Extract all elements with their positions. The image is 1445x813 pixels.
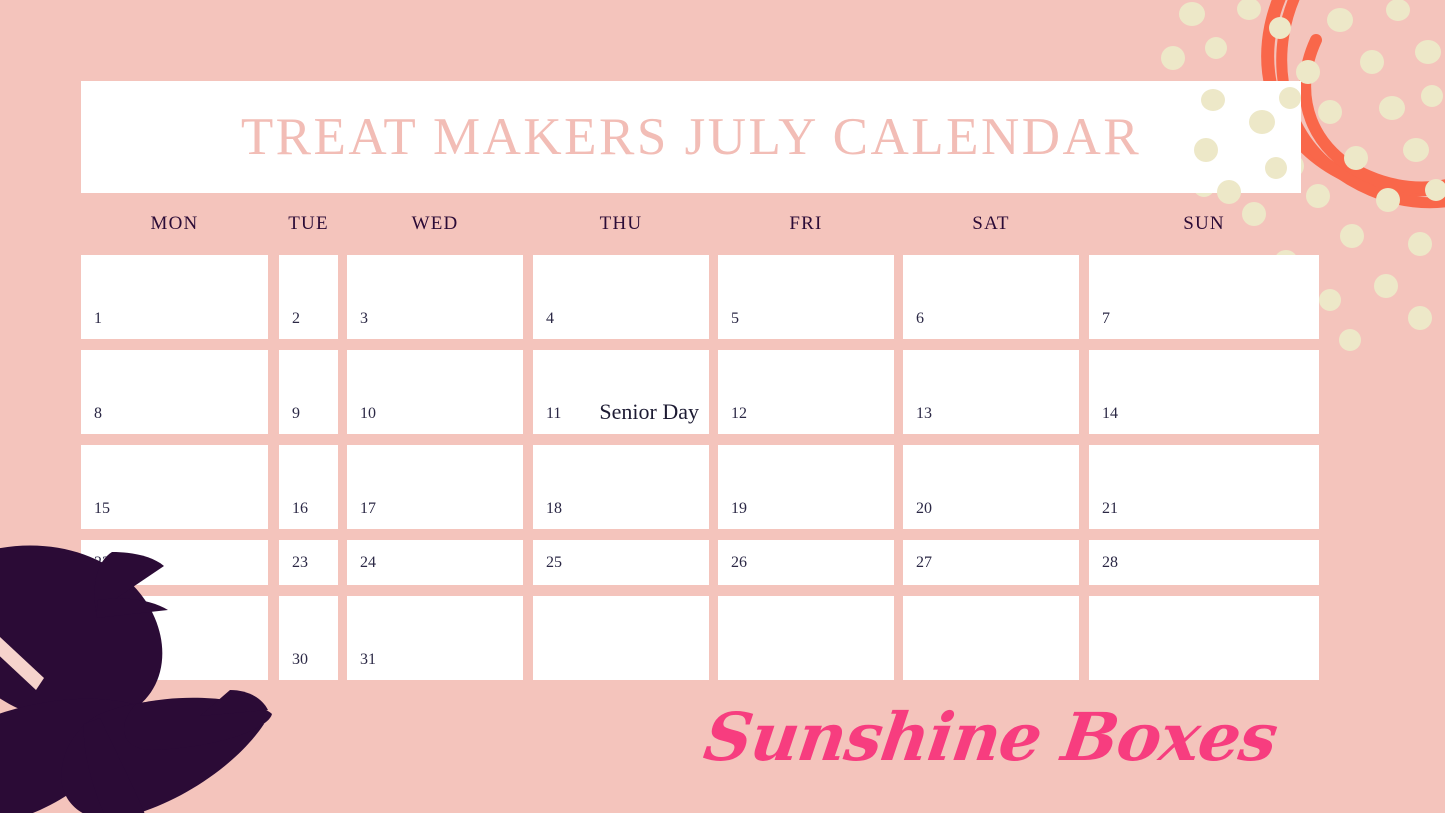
calendar-day-cell[interactable]: 6 <box>903 255 1079 339</box>
calendar-day-cell[interactable]: 8 <box>81 350 268 434</box>
cell-gap <box>523 596 533 680</box>
week-row-gap <box>81 434 1301 445</box>
calendar-day-cell[interactable]: 9 <box>279 350 338 434</box>
day-number: 13 <box>916 406 932 422</box>
day-number: 28 <box>1102 555 1118 571</box>
calendar-day-cell[interactable]: 3 <box>347 255 523 339</box>
calendar-day-cell[interactable]: 14 <box>1089 350 1319 434</box>
brand-logo: Sunshine Boxes <box>705 698 1155 783</box>
calendar-grid: 1234567891011Senior Day12131415161718192… <box>81 255 1301 680</box>
weekday-label-tue: TUE <box>279 213 338 235</box>
day-event-label[interactable]: Senior Day <box>599 401 699 423</box>
calendar-day-cell[interactable]: 23 <box>279 540 338 585</box>
calendar-day-cell[interactable]: 24 <box>347 540 523 585</box>
calendar-empty-cell[interactable] <box>903 596 1079 680</box>
day-number: 21 <box>1102 501 1118 517</box>
day-number: 10 <box>360 406 376 422</box>
cell-gap <box>268 596 279 680</box>
day-number: 25 <box>546 555 562 571</box>
day-number: 22 <box>94 555 110 571</box>
day-number: 6 <box>916 311 924 327</box>
calendar-day-cell[interactable]: 7 <box>1089 255 1319 339</box>
cell-gap <box>1079 596 1089 680</box>
cell-gap <box>709 445 718 529</box>
page-title: TREAT MAKERS JULY CALENDAR <box>241 107 1141 167</box>
calendar-day-cell[interactable]: 27 <box>903 540 1079 585</box>
week-row-gap <box>81 529 1301 540</box>
day-number: 31 <box>360 652 376 668</box>
cell-gap <box>338 596 347 680</box>
cell-gap <box>709 255 718 339</box>
cell-gap <box>894 540 903 585</box>
calendar-day-cell[interactable]: 22 <box>81 540 268 585</box>
cell-gap <box>523 255 533 339</box>
calendar-day-cell[interactable]: 29 <box>81 596 268 680</box>
day-number: 1 <box>94 311 102 327</box>
day-number: 17 <box>360 501 376 517</box>
calendar-week-row: 15161718192021 <box>81 445 1301 529</box>
week-row-gap <box>81 339 1301 350</box>
day-number: 23 <box>292 555 308 571</box>
calendar-day-cell[interactable]: 31 <box>347 596 523 680</box>
day-number: 24 <box>360 555 376 571</box>
day-number: 26 <box>731 555 747 571</box>
day-number: 9 <box>292 406 300 422</box>
calendar-week-row: 293031 <box>81 596 1301 680</box>
weekday-label-mon: MON <box>81 213 268 235</box>
calendar-week-row: 891011Senior Day121314 <box>81 350 1301 434</box>
cell-gap <box>894 350 903 434</box>
week-row-gap <box>81 585 1301 596</box>
cell-gap <box>523 350 533 434</box>
weekday-header-row: MONTUEWEDTHUFRISATSUN <box>81 193 1301 255</box>
day-number: 15 <box>94 501 110 517</box>
cell-gap <box>1079 540 1089 585</box>
calendar-day-cell[interactable]: 19 <box>718 445 894 529</box>
day-number: 29 <box>94 652 110 668</box>
cell-gap <box>338 255 347 339</box>
day-number: 5 <box>731 311 739 327</box>
calendar-week-row: 1234567 <box>81 255 1301 339</box>
calendar-day-cell[interactable]: 11Senior Day <box>533 350 709 434</box>
calendar-day-cell[interactable]: 20 <box>903 445 1079 529</box>
calendar: TREAT MAKERS JULY CALENDAR MONTUEWEDTHUF… <box>81 81 1301 680</box>
day-number: 8 <box>94 406 102 422</box>
day-number: 7 <box>1102 311 1110 327</box>
cell-gap <box>268 255 279 339</box>
calendar-day-cell[interactable]: 1 <box>81 255 268 339</box>
calendar-week-row: 22232425262728 <box>81 540 1301 585</box>
cell-gap <box>1079 350 1089 434</box>
weekday-label-thu: THU <box>533 213 709 235</box>
calendar-day-cell[interactable]: 15 <box>81 445 268 529</box>
calendar-day-cell[interactable]: 25 <box>533 540 709 585</box>
cell-gap <box>338 350 347 434</box>
day-number: 2 <box>292 311 300 327</box>
cell-gap <box>894 445 903 529</box>
weekday-label-wed: WED <box>347 213 523 235</box>
day-number: 30 <box>292 652 308 668</box>
cell-gap <box>268 445 279 529</box>
calendar-empty-cell[interactable] <box>533 596 709 680</box>
calendar-day-cell[interactable]: 4 <box>533 255 709 339</box>
day-number: 20 <box>916 501 932 517</box>
cell-gap <box>338 445 347 529</box>
calendar-day-cell[interactable]: 18 <box>533 445 709 529</box>
weekday-label-sun: SUN <box>1089 213 1319 235</box>
calendar-empty-cell[interactable] <box>1089 596 1319 680</box>
day-number: 11 <box>546 406 561 422</box>
calendar-day-cell[interactable]: 12 <box>718 350 894 434</box>
calendar-day-cell[interactable]: 26 <box>718 540 894 585</box>
calendar-title-card: TREAT MAKERS JULY CALENDAR <box>81 81 1301 193</box>
cell-gap <box>709 596 718 680</box>
calendar-day-cell[interactable]: 17 <box>347 445 523 529</box>
weekday-label-fri: FRI <box>718 213 894 235</box>
cell-gap <box>709 350 718 434</box>
weekday-label-sat: SAT <box>903 213 1079 235</box>
brand-name: Sunshine Boxes <box>700 698 1161 776</box>
cell-gap <box>338 540 347 585</box>
day-number: 19 <box>731 501 747 517</box>
cell-gap <box>1079 255 1089 339</box>
day-number: 14 <box>1102 406 1118 422</box>
cell-gap <box>1079 445 1089 529</box>
calendar-day-cell[interactable]: 5 <box>718 255 894 339</box>
cell-gap <box>523 540 533 585</box>
day-number: 16 <box>292 501 308 517</box>
day-number: 18 <box>546 501 562 517</box>
calendar-day-cell[interactable]: 2 <box>279 255 338 339</box>
cell-gap <box>523 445 533 529</box>
calendar-day-cell[interactable]: 30 <box>279 596 338 680</box>
day-number: 27 <box>916 555 932 571</box>
cell-gap <box>894 596 903 680</box>
calendar-day-cell[interactable]: 13 <box>903 350 1079 434</box>
day-number: 3 <box>360 311 368 327</box>
cell-gap <box>894 255 903 339</box>
calendar-day-cell[interactable]: 21 <box>1089 445 1319 529</box>
cell-gap <box>268 350 279 434</box>
calendar-empty-cell[interactable] <box>718 596 894 680</box>
calendar-day-cell[interactable]: 10 <box>347 350 523 434</box>
calendar-day-cell[interactable]: 16 <box>279 445 338 529</box>
cell-gap <box>268 540 279 585</box>
calendar-day-cell[interactable]: 28 <box>1089 540 1319 585</box>
cell-gap <box>709 540 718 585</box>
day-number: 12 <box>731 406 747 422</box>
day-number: 4 <box>546 311 554 327</box>
